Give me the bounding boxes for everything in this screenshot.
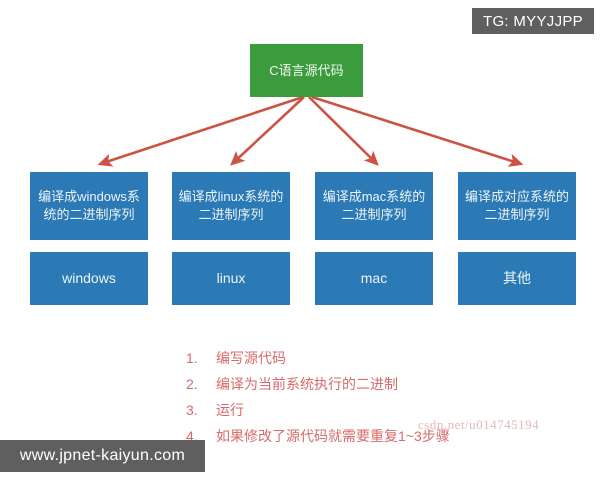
diagram-canvas: TG: MYYJJPP C语言源代码 编译成windows系 统的二进制序列 编… xyxy=(0,0,600,480)
arrow-to-other xyxy=(312,97,521,164)
compile-node-other-label: 编译成对应系统的 二进制序列 xyxy=(459,188,575,223)
step-number: 1. xyxy=(186,348,216,369)
site-watermark-badge: www.jpnet-kaiyun.com xyxy=(0,440,205,472)
telegram-watermark-text: TG: MYYJJPP xyxy=(483,13,583,30)
compile-node-other: 编译成对应系统的 二进制序列 xyxy=(458,172,576,240)
step-number: 3. xyxy=(186,400,216,421)
platform-node-mac-label: mac xyxy=(355,269,393,288)
compile-node-windows-label: 编译成windows系 统的二进制序列 xyxy=(32,188,146,223)
compile-node-windows: 编译成windows系 统的二进制序列 xyxy=(30,172,148,240)
step-text: 编译为当前系统执行的二进制 xyxy=(216,374,516,395)
step-text: 编写源代码 xyxy=(216,348,516,369)
compile-node-linux-label: 编译成linux系统的 二进制序列 xyxy=(173,188,290,223)
platform-node-other: 其他 xyxy=(458,252,576,305)
arrow-to-windows xyxy=(100,97,303,164)
platform-node-linux-label: linux xyxy=(211,269,252,288)
compile-node-linux: 编译成linux系统的 二进制序列 xyxy=(172,172,290,240)
list-item: 2. 编译为当前系统执行的二进制 xyxy=(186,374,516,395)
site-watermark-text: www.jpnet-kaiyun.com xyxy=(20,447,185,465)
platform-node-mac: mac xyxy=(315,252,433,305)
steps-list: 1. 编写源代码 2. 编译为当前系统执行的二进制 3. 运行 4. 如果修改了… xyxy=(186,348,516,452)
platform-node-linux: linux xyxy=(172,252,290,305)
list-item: 1. 编写源代码 xyxy=(186,348,516,369)
arrow-to-linux xyxy=(232,97,304,164)
source-code-node: C语言源代码 xyxy=(250,44,363,97)
platform-node-windows-label: windows xyxy=(56,269,122,288)
arrow-to-mac xyxy=(309,97,377,164)
telegram-watermark-badge: TG: MYYJJPP xyxy=(472,8,594,34)
source-code-node-label: C语言源代码 xyxy=(263,62,349,80)
platform-node-other-label: 其他 xyxy=(497,269,537,288)
step-number: 2. xyxy=(186,374,216,395)
platform-node-windows: windows xyxy=(30,252,148,305)
csdn-watermark-text: csdn.net/u014745194 xyxy=(418,417,539,433)
compile-node-mac: 编译成mac系统的 二进制序列 xyxy=(315,172,433,240)
compile-node-mac-label: 编译成mac系统的 二进制序列 xyxy=(317,188,432,223)
